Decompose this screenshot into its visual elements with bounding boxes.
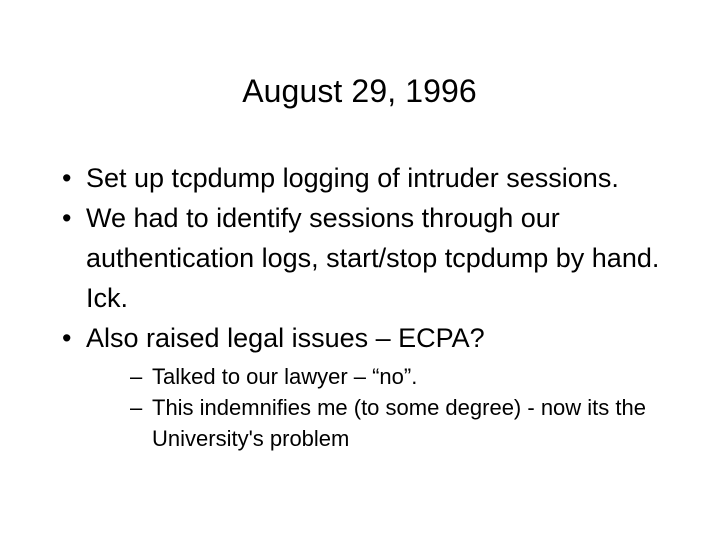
list-item: • Also raised legal issues – ECPA? – Tal… (58, 318, 678, 454)
slide-body-list: • Set up tcpdump logging of intruder ses… (58, 158, 678, 454)
sub-list: – Talked to our lawyer – “no”. – This in… (86, 361, 678, 454)
sub-list-item-text: Talked to our lawyer – “no”. (152, 364, 417, 389)
bullet-icon: • (62, 158, 71, 198)
slide: August 29, 1996 • Set up tcpdump logging… (0, 0, 719, 539)
sub-list-item: – This indemnifies me (to some degree) -… (130, 392, 678, 454)
bullet-icon: • (62, 198, 71, 238)
list-item-text: Set up tcpdump logging of intruder sessi… (86, 163, 619, 193)
list-item-text: We had to identify sessions through our … (86, 203, 659, 313)
list-item-text: Also raised legal issues – ECPA? (86, 323, 485, 353)
dash-bullet-icon: – (130, 392, 142, 423)
dash-bullet-icon: – (130, 361, 142, 392)
sub-list-item-text: This indemnifies me (to some degree) - n… (152, 395, 646, 451)
page-title: August 29, 1996 (0, 72, 719, 110)
list-item: • Set up tcpdump logging of intruder ses… (58, 158, 678, 198)
sub-list-item: – Talked to our lawyer – “no”. (130, 361, 678, 392)
bullet-icon: • (62, 318, 71, 358)
list-item: • We had to identify sessions through ou… (58, 198, 678, 318)
